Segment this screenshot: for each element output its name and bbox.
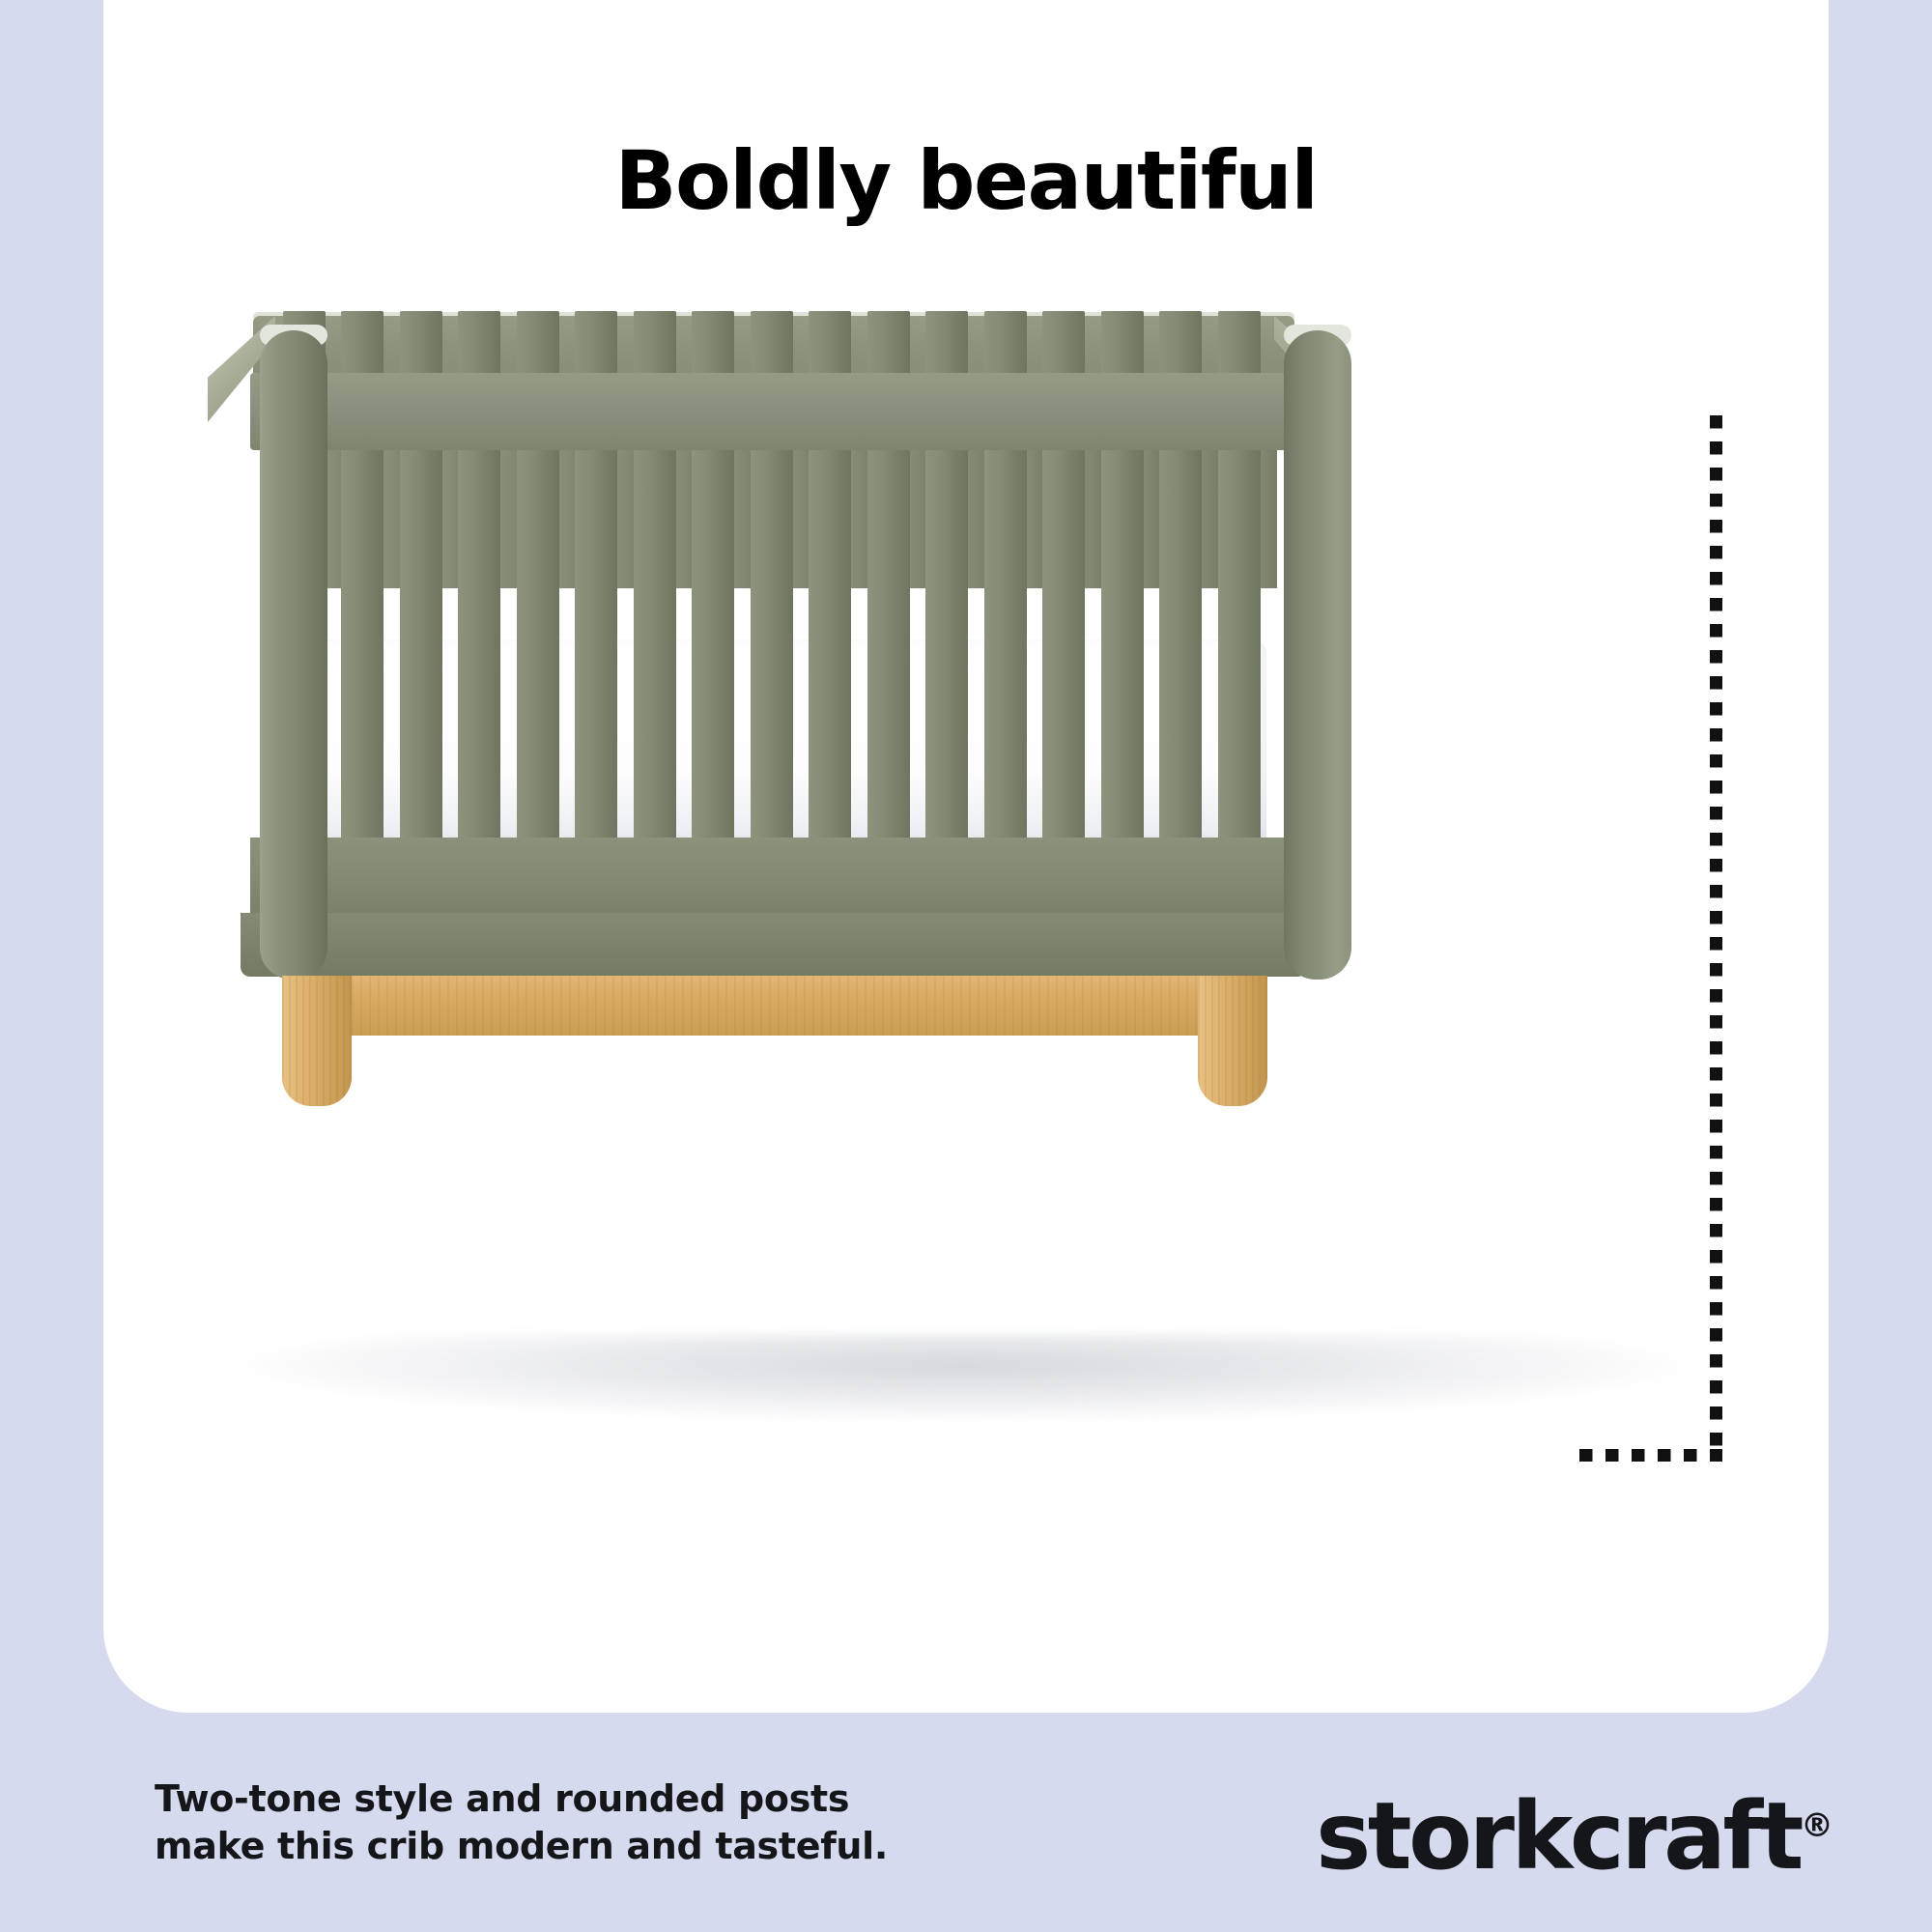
- front-top-rail: [250, 373, 1297, 450]
- base-skirt: [241, 913, 1307, 977]
- wood-leg-left: [282, 976, 352, 1106]
- product-card: Boldly beautiful: [103, 0, 1829, 1713]
- measure-line-horizontal: [1579, 1449, 1722, 1462]
- footer-caption-line-2: make this crib modern and tasteful.: [155, 1823, 888, 1870]
- poster-stage: Boldly beautiful Two-tone s: [0, 0, 1932, 1932]
- front-bottom-rail: [250, 838, 1297, 919]
- wood-leg-right: [1198, 976, 1267, 1106]
- brand-logo-text: storkcraft: [1316, 1782, 1801, 1890]
- footer-caption-line-1: Two-tone style and rounded posts: [155, 1776, 888, 1823]
- wood-base-rail: [282, 976, 1267, 1036]
- registered-trademark-icon: ®: [1801, 1806, 1833, 1845]
- corner-post-left: [260, 330, 327, 980]
- floor-shadow: [229, 1335, 1697, 1422]
- footer-caption: Two-tone style and rounded posts make th…: [155, 1776, 888, 1871]
- measure-line-vertical: [1710, 415, 1722, 1449]
- corner-post-right: [1284, 330, 1351, 980]
- brand-logo: storkcraft®: [1316, 1782, 1833, 1890]
- crib-product-image: [103, 0, 1829, 1713]
